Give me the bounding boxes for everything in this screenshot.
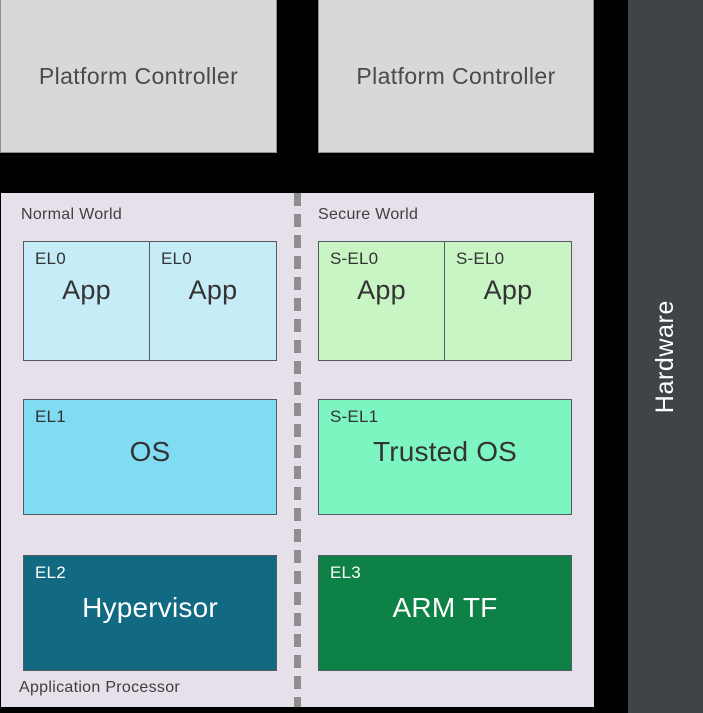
component-name: OS: [24, 436, 276, 468]
secure-world-title: Secure World: [318, 206, 418, 224]
secure-world-sel1-trusted-os-box: S-EL1 Trusted OS: [318, 399, 572, 515]
hardware-panel: Hardware: [628, 0, 703, 713]
exception-level-tag: EL0: [35, 249, 66, 269]
component-name: Hypervisor: [24, 592, 276, 624]
application-processor-label: Application Processor: [19, 679, 180, 697]
normal-world-el0-app-box-1: EL0 App: [23, 241, 150, 361]
exception-level-tag: S-EL0: [456, 249, 504, 269]
exception-level-tag: EL0: [161, 249, 192, 269]
component-name: App: [150, 275, 276, 306]
exception-level-tag: EL1: [35, 407, 66, 427]
component-name: App: [319, 275, 444, 306]
component-name: App: [445, 275, 571, 306]
normal-world-el2-hypervisor-box: EL2 Hypervisor: [23, 555, 277, 671]
exception-level-tag: EL2: [35, 563, 66, 583]
platform-controller-box-1: Platform Controller: [0, 0, 277, 153]
component-name: ARM TF: [319, 592, 571, 624]
exception-level-tag: S-EL1: [330, 407, 378, 427]
component-name: Trusted OS: [319, 436, 571, 468]
platform-controller-label-2: Platform Controller: [356, 63, 555, 90]
hardware-label: Hardware: [651, 300, 680, 413]
application-processor-panel: Normal World Secure World EL0 App EL0 Ap…: [1, 193, 594, 707]
secure-world-sel0-app-box-1: S-EL0 App: [318, 241, 445, 361]
normal-world-title: Normal World: [21, 206, 122, 224]
secure-world-el3-armtf-box: EL3 ARM TF: [318, 555, 572, 671]
platform-controller-box-2: Platform Controller: [318, 0, 594, 153]
exception-level-tag: S-EL0: [330, 249, 378, 269]
component-name: App: [24, 275, 149, 306]
normal-world-el1-os-box: EL1 OS: [23, 399, 277, 515]
world-separator-dashed-line: [294, 193, 301, 707]
secure-world-sel0-app-box-2: S-EL0 App: [444, 241, 572, 361]
exception-level-tag: EL3: [330, 563, 361, 583]
platform-controller-label-1: Platform Controller: [39, 63, 238, 90]
normal-world-el0-app-box-2: EL0 App: [149, 241, 277, 361]
